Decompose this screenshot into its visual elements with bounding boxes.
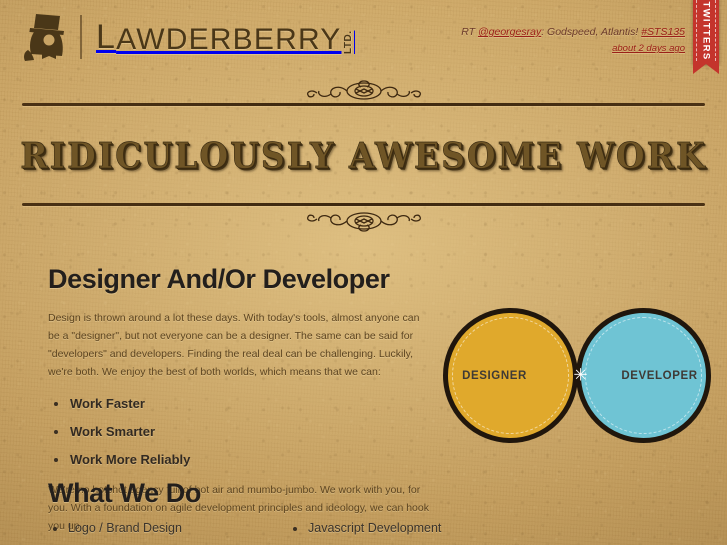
- latest-tweet: RT @georgesray: Godspeed, Atlantis! #STS…: [415, 25, 685, 56]
- tweet-timestamp: about 2 days ago: [415, 42, 685, 56]
- list-item: Work Smarter: [48, 424, 433, 439]
- list-item: Javascript Development: [288, 521, 441, 535]
- tagline-text: RIDICULOUSLY AWESOME WORK: [20, 134, 707, 176]
- what-we-do-section: What We Do Logo / Brand Design Javascrip…: [48, 478, 688, 545]
- gentleman-tophat-monocle-icon: [22, 12, 74, 62]
- brand-wordmark: LAWDERBERRYLTD.: [96, 18, 354, 57]
- site-logo-link[interactable]: LAWDERBERRYLTD.: [22, 12, 354, 62]
- services-column-b: Javascript Development: [288, 521, 441, 545]
- list-item: Work Faster: [48, 396, 433, 411]
- services-column-a: Logo / Brand Design: [48, 521, 288, 545]
- tweet-hashtag-link[interactable]: #STS135: [641, 26, 685, 38]
- venn-center-asterisk-icon: ✳: [573, 367, 587, 384]
- list-item: Logo / Brand Design: [48, 521, 288, 535]
- list-item: Work More Reliably: [48, 452, 433, 467]
- venn-label-designer: DESIGNER: [462, 370, 527, 382]
- brand-first-letter: L: [96, 18, 116, 57]
- flourish-ornament-top-icon: [284, 78, 444, 104]
- what-we-do-heading: What We Do: [48, 478, 688, 509]
- designer-developer-heading: Designer And/Or Developer: [48, 264, 433, 295]
- flourish-ornament-bottom-icon: [284, 208, 444, 234]
- tagline-banner: RIDICULOUSLY AWESOME WORK: [0, 124, 727, 186]
- divider-rule-top: [22, 103, 705, 106]
- brand-suffix: LTD.: [343, 28, 354, 54]
- tweet-handle-link[interactable]: @georgesray: [478, 26, 541, 38]
- tweet-body: Godspeed, Atlantis!: [547, 26, 641, 38]
- designer-developer-venn-diagram: DESIGNER DEVELOPER ✳: [443, 308, 718, 443]
- what-we-do-columns: Logo / Brand Design Javascript Developme…: [48, 521, 688, 545]
- designer-developer-paragraph-1: Design is thrown around a lot these days…: [48, 309, 433, 381]
- tweet-prefix: RT: [461, 26, 478, 38]
- divider-rule-bottom: [22, 203, 705, 206]
- logo-divider: [80, 15, 82, 59]
- venn-circle-developer: DEVELOPER: [576, 308, 711, 443]
- brand-rest: AWDERBERRY: [116, 23, 341, 57]
- tweet-timestamp-link[interactable]: about 2 days ago: [612, 43, 685, 54]
- twitters-ribbon-label: TWITTERS: [701, 2, 712, 61]
- venn-label-developer: DEVELOPER: [621, 370, 697, 382]
- page-root: LAWDERBERRYLTD. RT @georgesray: Godspeed…: [0, 0, 727, 545]
- twitters-ribbon[interactable]: TWITTERS: [693, 0, 719, 64]
- feature-list: Work Faster Work Smarter Work More Relia…: [48, 396, 433, 467]
- venn-circle-designer: DESIGNER: [443, 308, 578, 443]
